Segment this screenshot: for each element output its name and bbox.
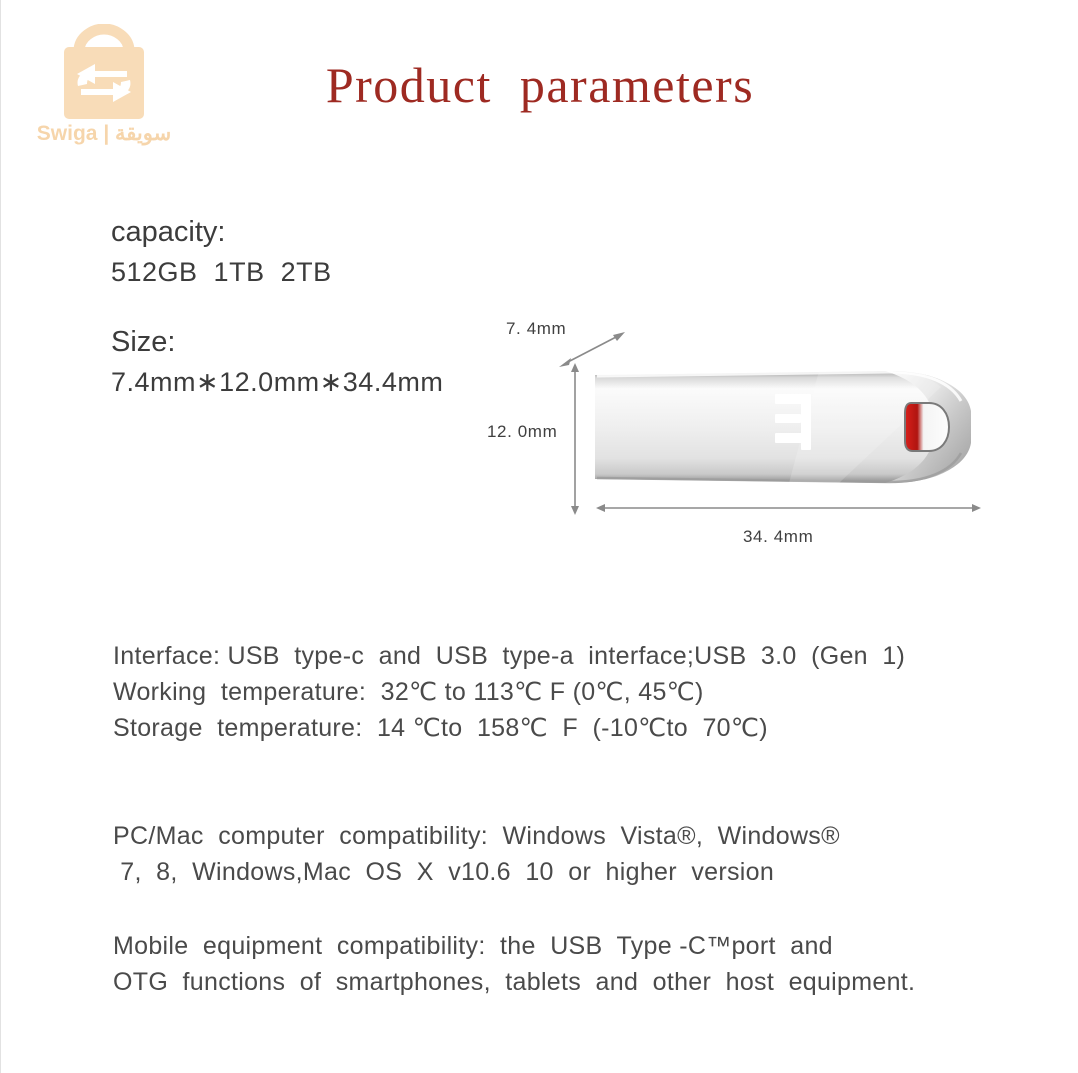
brand-wordmark-arabic: سويقة bbox=[115, 122, 171, 146]
size-value: 7.4mm∗12.0mm∗34.4mm bbox=[111, 362, 443, 402]
product-parameters-page: Swiga | سويقة Product parameters capacit… bbox=[0, 0, 1078, 1073]
pc-compatibility-group: PC/Mac computer compatibility: Windows V… bbox=[113, 818, 840, 890]
dimension-height-label: 12. 0mm bbox=[487, 422, 557, 442]
size-label: Size: bbox=[111, 322, 443, 362]
interface-specs-group: Interface: USB type-c and USB type-a int… bbox=[113, 638, 905, 746]
dimension-height-arrow-icon bbox=[568, 363, 582, 515]
usb-flash-drive-image bbox=[589, 361, 989, 493]
keyring-loop-accent bbox=[905, 403, 949, 451]
pc-compatibility-line-1: PC/Mac computer compatibility: Windows V… bbox=[113, 818, 840, 854]
working-temperature-line: Working temperature: 32℃ to 113℃ F (0℃, … bbox=[113, 674, 905, 710]
page-title: Product parameters bbox=[1, 56, 1078, 114]
mobile-compatibility-line-1: Mobile equipment compatibility: the USB … bbox=[113, 928, 915, 964]
size-spec-block: Size: 7.4mm∗12.0mm∗34.4mm bbox=[111, 322, 443, 402]
dimension-length-label: 34. 4mm bbox=[743, 527, 813, 547]
pc-compatibility-line-2: 7, 8, Windows,Mac OS X v10.6 10 or highe… bbox=[113, 854, 840, 890]
mobile-compatibility-line-2: OTG functions of smartphones, tablets an… bbox=[113, 964, 915, 1000]
interface-line: Interface: USB type-c and USB type-a int… bbox=[113, 638, 905, 674]
capacity-value: 512GB 1TB 2TB bbox=[111, 252, 332, 292]
capacity-label: capacity: bbox=[111, 212, 332, 252]
svg-text:Swiga | سويقة: Swiga | سويقة bbox=[37, 122, 171, 146]
product-diagram: 7. 4mm 12. 0mm 34. 4mm bbox=[471, 305, 1031, 565]
brand-wordmark-latin: Swiga bbox=[37, 122, 98, 145]
storage-temperature-line: Storage temperature: 14 ℃to 158℃ F (-10℃… bbox=[113, 710, 905, 746]
mobile-compatibility-group: Mobile equipment compatibility: the USB … bbox=[113, 928, 915, 1000]
capacity-spec-block: capacity: 512GB 1TB 2TB bbox=[111, 212, 332, 292]
dimension-length-arrow-icon bbox=[596, 501, 981, 515]
mi-logo-icon bbox=[775, 394, 811, 450]
